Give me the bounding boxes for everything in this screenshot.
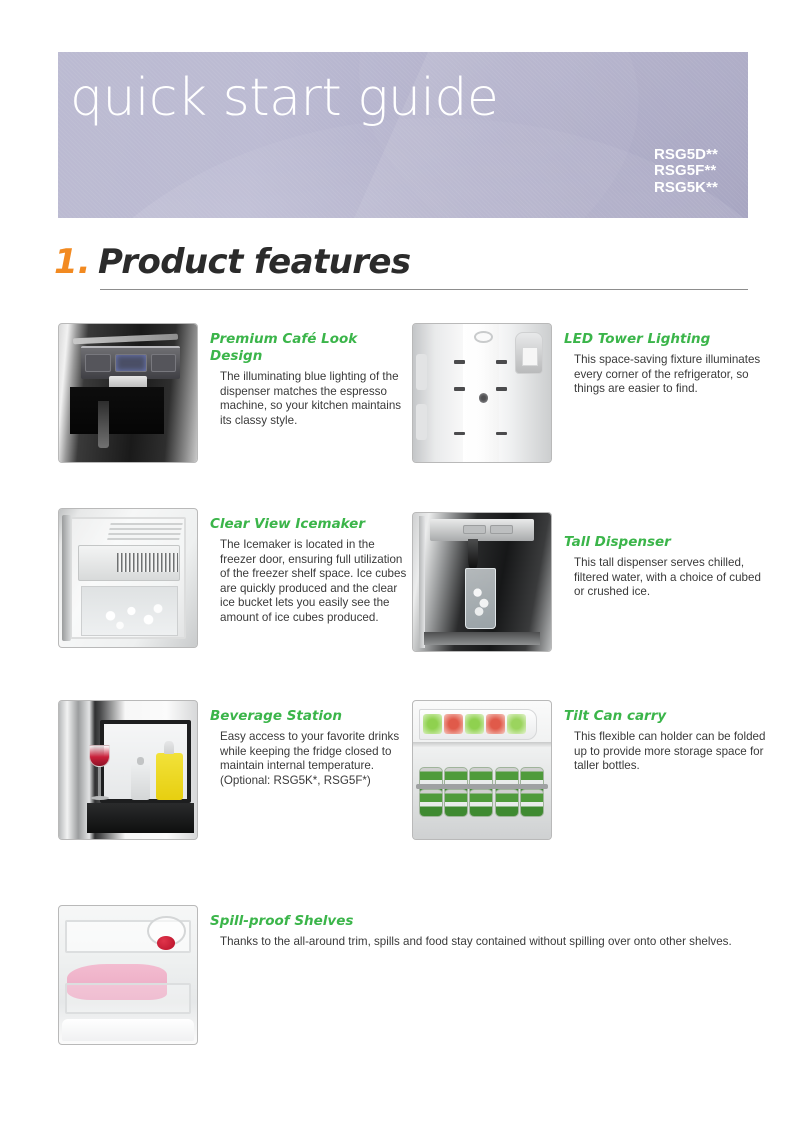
feature-body: The Icemaker is located in the freezer d…	[210, 538, 410, 626]
feature-body: Easy access to your favorite drinks whil…	[210, 730, 410, 788]
feature-image-tall-dispenser	[412, 512, 552, 652]
model-number-2: RSG5F**	[654, 163, 718, 180]
model-number-3: RSG5K**	[654, 180, 718, 197]
feature-item-beverage-station: Beverage Station Easy access to your fav…	[58, 700, 398, 850]
feature-item-tilt-can-carry: Tilt Can carry This flexible can holder …	[412, 700, 752, 850]
dispenser-photo	[59, 324, 197, 462]
feature-title: Spill-proof Shelves	[210, 913, 750, 930]
beverage-station-photo	[59, 701, 197, 839]
feature-title: Premium Café Look Design	[210, 331, 410, 365]
tall-dispenser-photo	[413, 513, 551, 651]
feature-body: Thanks to the all-around trim, spills an…	[210, 935, 750, 950]
page-title: quick start guide	[70, 68, 498, 128]
feature-title: Tall Dispenser	[564, 534, 764, 551]
header-banner: quick start guide RSG5D** RSG5F** RSG5K*…	[58, 52, 748, 218]
feature-image-spill-proof-shelves	[58, 905, 198, 1045]
feature-body: This flexible can holder can be folded u…	[564, 730, 779, 774]
feature-image-tilt-can-carry	[412, 700, 552, 840]
feature-image-premium-cafe-look-design	[58, 323, 198, 463]
model-number-1: RSG5D**	[654, 147, 718, 164]
feature-title: Tilt Can carry	[564, 708, 779, 725]
quick-start-guide-page: quick start guide RSG5D** RSG5F** RSG5K*…	[0, 0, 802, 1134]
feature-item-clear-view-icemaker: Clear View Icemaker The Icemaker is loca…	[58, 508, 398, 658]
feature-item-tall-dispenser: Tall Dispenser This tall dispenser serve…	[412, 512, 752, 662]
spill-proof-shelves-photo	[59, 906, 197, 1044]
feature-body: This space-saving fixture illuminates ev…	[564, 353, 764, 397]
feature-text-tall-dispenser: Tall Dispenser This tall dispenser serve…	[564, 534, 764, 600]
feature-text-beverage-station: Beverage Station Easy access to your fav…	[210, 708, 410, 788]
tilt-can-photo	[413, 701, 551, 839]
feature-image-clear-view-icemaker	[58, 508, 198, 648]
feature-title: Clear View Icemaker	[210, 516, 410, 533]
feature-text-clear-view-icemaker: Clear View Icemaker The Icemaker is loca…	[210, 516, 410, 626]
model-number-list: RSG5D** RSG5F** RSG5K**	[654, 147, 718, 197]
feature-title: Beverage Station	[210, 708, 410, 725]
section-title: Product features	[98, 240, 411, 284]
feature-text-premium-cafe-look-design: Premium Café Look Design The illuminatin…	[210, 331, 410, 428]
section-heading: 1. Product features	[54, 240, 754, 292]
feature-title: LED Tower Lighting	[564, 331, 764, 348]
feature-text-led-tower-lighting: LED Tower Lighting This space-saving fix…	[564, 331, 764, 397]
feature-item-premium-cafe-look-design: Premium Café Look Design The illuminatin…	[58, 323, 398, 473]
feature-text-tilt-can-carry: Tilt Can carry This flexible can holder …	[564, 708, 779, 774]
feature-item-spill-proof-shelves: Spill-proof Shelves Thanks to the all-ar…	[58, 905, 748, 1045]
section-number: 1.	[54, 240, 91, 284]
led-tower-photo	[413, 324, 551, 462]
feature-text-spill-proof-shelves: Spill-proof Shelves Thanks to the all-ar…	[210, 913, 750, 950]
feature-image-led-tower-lighting	[412, 323, 552, 463]
feature-item-led-tower-lighting: LED Tower Lighting This space-saving fix…	[412, 323, 752, 473]
icemaker-photo	[59, 509, 197, 647]
feature-image-beverage-station	[58, 700, 198, 840]
feature-body: The illuminating blue lighting of the di…	[210, 370, 410, 428]
feature-body: This tall dispenser serves chilled, filt…	[564, 556, 764, 600]
section-divider	[100, 289, 748, 290]
